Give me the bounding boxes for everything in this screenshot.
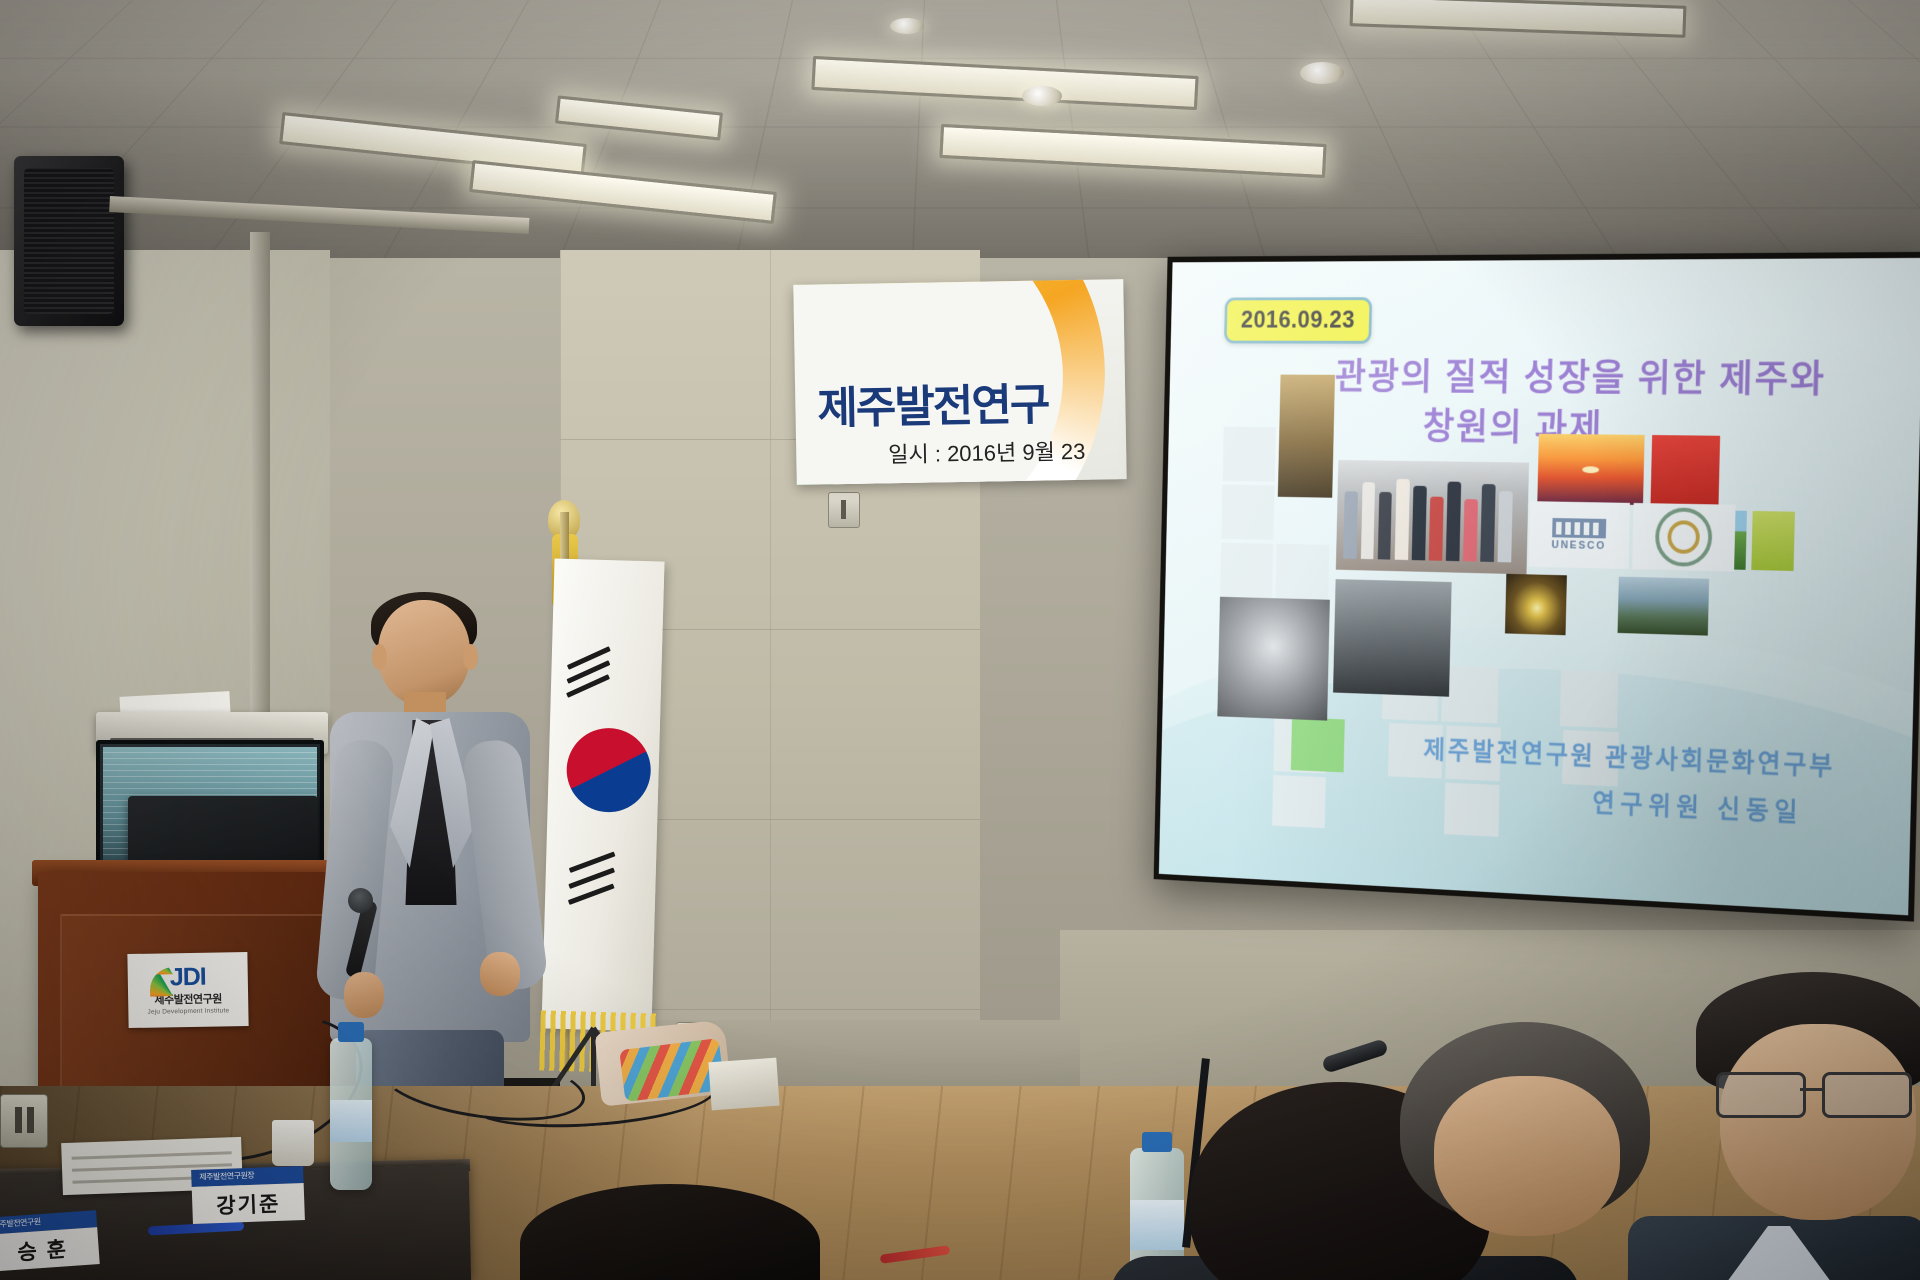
bottle-label <box>1130 1200 1184 1250</box>
slide-photo-red-block <box>1650 435 1720 506</box>
slide-photo-coast <box>1618 577 1710 636</box>
nameplate-org-text: 제주발전연구원장 <box>199 1170 254 1183</box>
jdi-logo-english: Jeju Development Institute <box>147 1007 229 1015</box>
ceiling-dome-light <box>1022 86 1062 106</box>
audience-glasses <box>1716 1072 1920 1114</box>
water-bottle-left <box>330 1038 372 1190</box>
slide-photo-cave-glow <box>1505 574 1567 635</box>
slide-green-chip <box>1291 717 1345 772</box>
slide-title-line1: 관광의 질적 성장을 위한 제주와 <box>1335 357 1827 400</box>
slide-tile <box>1560 670 1619 728</box>
slide-tile <box>1223 427 1276 482</box>
wall-switch[interactable] <box>828 492 860 528</box>
audience-head-2 <box>1400 1022 1650 1222</box>
slide-photo-rock <box>1333 579 1452 697</box>
audience-head-3-face <box>1720 1024 1916 1220</box>
window-blind-track <box>250 232 270 792</box>
paper-cup <box>272 1120 314 1166</box>
bottle-cap <box>1142 1132 1172 1152</box>
slide-date-badge: 2016.09.23 <box>1224 297 1372 344</box>
jdi-logo-plaque: JDI 제주발전연구원 Jeju Development Institute <box>127 952 248 1028</box>
bottle-cap <box>338 1022 364 1042</box>
presenter-head <box>378 600 470 706</box>
slide-photo-lava-formation <box>1217 597 1330 721</box>
wall-speaker <box>14 156 124 326</box>
unesco-logo-label: UNESCO <box>1551 518 1606 552</box>
korean-flag <box>541 559 664 1032</box>
slide-tile <box>1276 544 1330 600</box>
presenter-ear-left <box>372 644 387 670</box>
slide-tile <box>1444 783 1500 837</box>
speaker-grille <box>24 168 114 314</box>
projection-screen: 2016.09.23 관광의 질적 성장을 위한 제주와 창원의 과제 <box>1154 252 1920 922</box>
presenter-hand-right <box>480 952 520 996</box>
geoparks-mark <box>1655 507 1713 567</box>
taeguk-symbol <box>552 714 664 827</box>
slide-photo-lime-block <box>1751 511 1795 571</box>
slide-tile <box>1272 775 1326 828</box>
event-banner: 제주발전연구 일시 : 2016년 9월 23 <box>793 279 1126 485</box>
slide-tile <box>1441 666 1498 724</box>
slide-tile <box>1220 543 1273 599</box>
nameplate-kang: 제주발전연구원장 강기준 <box>191 1166 305 1224</box>
nameplate-seung: 제주발전연구원 승 훈 <box>0 1210 100 1272</box>
presenter-hand-left <box>344 972 384 1018</box>
ceiling-dome-light-2 <box>1300 62 1344 84</box>
slide-photo-cave <box>1278 375 1335 498</box>
nameplate-name: 강기준 <box>192 1183 305 1224</box>
ceiling-smoke-detector <box>890 18 924 34</box>
slide-photo-sunset <box>1537 434 1644 505</box>
photo-scene: 제주발전연구 일시 : 2016년 9월 23 2016.09.23 관광의 질… <box>0 0 1920 1280</box>
audience-head-2-scalp <box>1434 1076 1620 1236</box>
small-box <box>708 1058 779 1111</box>
banner-title: 제주발전연구 <box>817 368 1049 436</box>
slide-photo-tourist-crowd <box>1336 460 1529 574</box>
floor-power-outlet[interactable] <box>0 1094 48 1148</box>
unesco-logo: UNESCO <box>1528 501 1629 569</box>
nameplate-org-text: 제주발전연구원 <box>0 1216 41 1230</box>
slide-tile <box>1221 485 1274 540</box>
global-geoparks-logo <box>1632 503 1736 572</box>
banner-date: 일시 : 2016년 9월 23 <box>888 434 1086 469</box>
presenter-ear-right <box>463 644 478 670</box>
bottle-label <box>330 1100 372 1142</box>
audience-head-3 <box>1690 972 1920 1280</box>
projected-slide: 2016.09.23 관광의 질적 성장을 위한 제주와 창원의 과제 <box>1159 258 1920 915</box>
